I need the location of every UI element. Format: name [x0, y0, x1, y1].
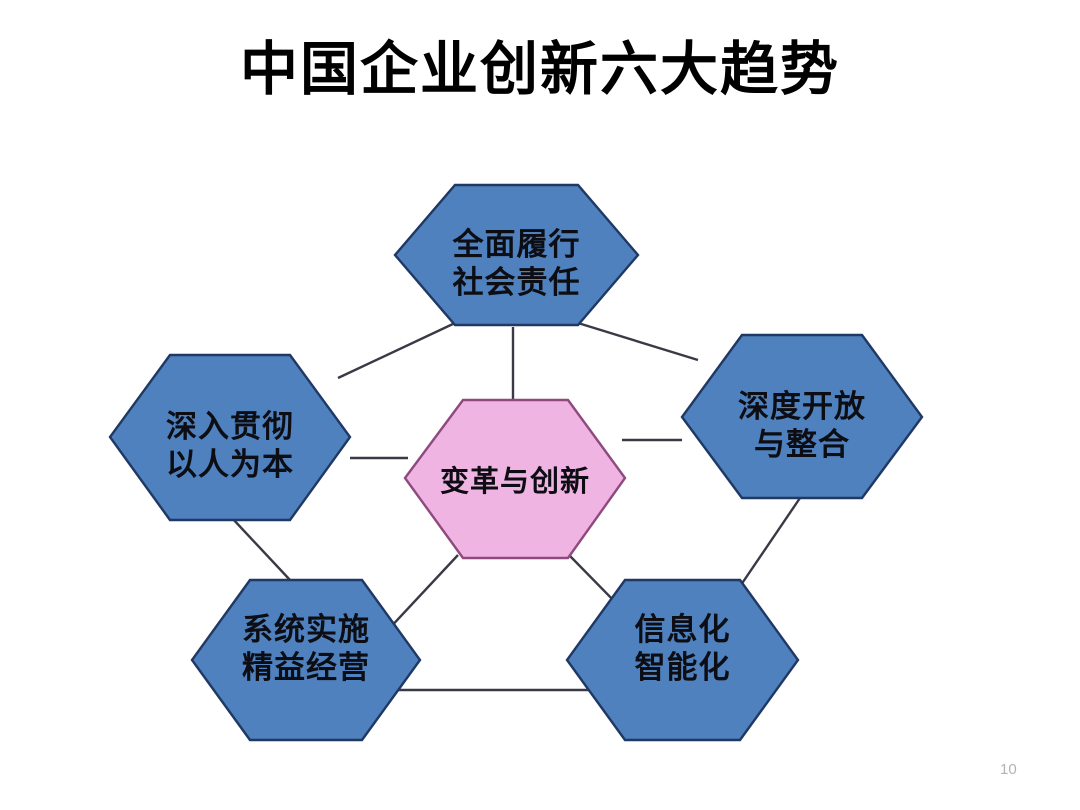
connector-top-to-right [578, 323, 698, 360]
hexagon-node-right[interactable] [682, 335, 922, 498]
hexagon-node-core[interactable] [405, 400, 625, 558]
hexagon-shape-bottom-right [567, 580, 798, 740]
hexagon-node-bottom-left[interactable] [192, 580, 420, 740]
hexagon-node-top[interactable] [395, 185, 638, 325]
hexagon-diagram [0, 0, 1080, 810]
slide-canvas: 中国企业创新六大趋势 [0, 0, 1080, 810]
hexagon-shape-top [395, 185, 638, 325]
hexagon-node-bottom-right[interactable] [567, 580, 798, 740]
connector-left-to-bottom-left [232, 518, 290, 580]
hexagon-node-left[interactable] [110, 355, 350, 520]
page-number: 10 [1000, 761, 1040, 778]
hexagon-shape-right [682, 335, 922, 498]
hexagon-shape-core [405, 400, 625, 558]
hexagon-shape-bottom-left [192, 580, 420, 740]
hexagon-shape-left [110, 355, 350, 520]
connector-left-to-top [338, 323, 455, 378]
